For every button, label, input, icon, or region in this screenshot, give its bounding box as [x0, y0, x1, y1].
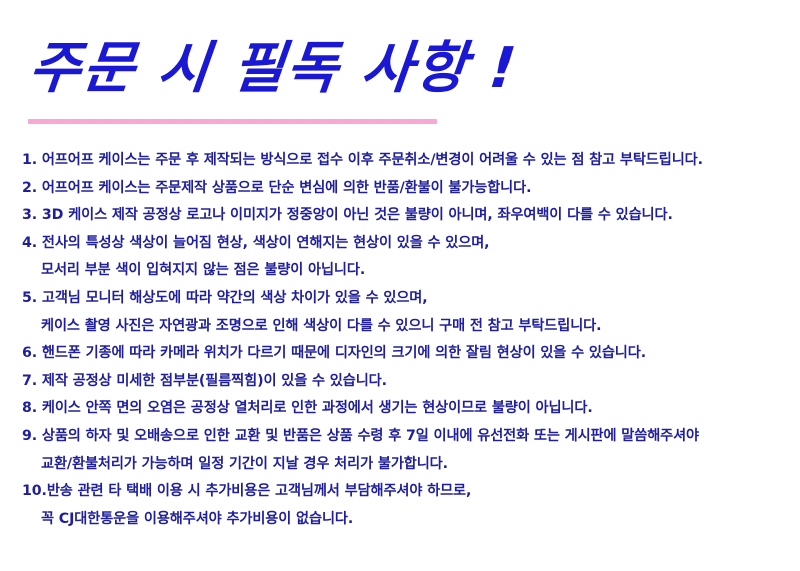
list-item: 3. 3D 케이스 제작 공정상 로고나 이미지가 정중앙이 아닌 것은 불량이… — [22, 202, 790, 230]
notice-text: 2. 어프어프 케이스는 주문제작 상품으로 단순 변심에 의한 반품/환불이 … — [22, 175, 790, 203]
list-item: 8. 케이스 안쪽 면의 오염은 공정상 열처리로 인한 과정에서 생기는 현상… — [22, 395, 790, 423]
list-item: 7. 제작 공정상 미세한 점부분(필름찍힘)이 있을 수 있습니다. — [22, 368, 790, 396]
notice-list: 1. 어프어프 케이스는 주문 후 제작되는 방식으로 접수 이후 주문취소/변… — [22, 147, 790, 533]
list-item: 1. 어프어프 케이스는 주문 후 제작되는 방식으로 접수 이후 주문취소/변… — [22, 147, 790, 175]
notice-text: 7. 제작 공정상 미세한 점부분(필름찍힘)이 있을 수 있습니다. — [22, 368, 790, 396]
notice-text-continuation: 교환/환불처리가 가능하며 일정 기간이 지날 경우 처리가 불가합니다. — [22, 451, 790, 479]
page-title: 주문 시 필독 사항 ! — [26, 40, 772, 99]
notice-text-continuation: 모서리 부분 색이 입혀지지 않는 점은 불량이 아닙니다. — [22, 257, 790, 285]
notice-text: 8. 케이스 안쪽 면의 오염은 공정상 열처리로 인한 과정에서 생기는 현상… — [22, 395, 790, 423]
notice-text: 6. 핸드폰 기종에 따라 카메라 위치가 다르기 때문에 디자인의 크기에 의… — [22, 340, 790, 368]
notice-text: 1. 어프어프 케이스는 주문 후 제작되는 방식으로 접수 이후 주문취소/변… — [22, 147, 790, 175]
title-underline-rule — [28, 119, 437, 124]
notice-text: 3. 3D 케이스 제작 공정상 로고나 이미지가 정중앙이 아닌 것은 불량이… — [22, 202, 790, 230]
list-item: 4. 전사의 특성상 색상이 늘어짐 현상, 색상이 연해지는 현상이 있을 수… — [22, 230, 790, 285]
list-item: 5. 고객님 모니터 해상도에 따라 약간의 색상 차이가 있을 수 있으며, … — [22, 285, 790, 340]
list-item: 9. 상품의 하자 및 오배송으로 인한 교환 및 반품은 상품 수령 후 7일… — [22, 423, 790, 478]
notice-text-continuation: 케이스 촬영 사진은 자연광과 조명으로 인해 색상이 다를 수 있으니 구매 … — [22, 313, 790, 341]
list-item: 2. 어프어프 케이스는 주문제작 상품으로 단순 변심에 의한 반품/환불이 … — [22, 175, 790, 203]
notice-text: 5. 고객님 모니터 해상도에 따라 약간의 색상 차이가 있을 수 있으며, — [22, 285, 790, 313]
notice-text: 9. 상품의 하자 및 오배송으로 인한 교환 및 반품은 상품 수령 후 7일… — [22, 423, 790, 451]
notice-text: 4. 전사의 특성상 색상이 늘어짐 현상, 색상이 연해지는 현상이 있을 수… — [22, 230, 790, 258]
list-item: 10.반송 관련 타 택배 이용 시 추가비용은 고객님께서 부담해주셔야 하므… — [22, 478, 790, 533]
notice-text: 10.반송 관련 타 택배 이용 시 추가비용은 고객님께서 부담해주셔야 하므… — [22, 478, 790, 506]
list-item: 6. 핸드폰 기종에 따라 카메라 위치가 다르기 때문에 디자인의 크기에 의… — [22, 340, 790, 368]
title-block: 주문 시 필독 사항 ! — [26, 40, 766, 99]
notice-page: 주문 시 필독 사항 ! 1. 어프어프 케이스는 주문 후 제작되는 방식으로… — [0, 0, 800, 571]
notice-text-continuation: 꼭 CJ대한통운을 이용해주셔야 추가비용이 없습니다. — [22, 506, 790, 534]
